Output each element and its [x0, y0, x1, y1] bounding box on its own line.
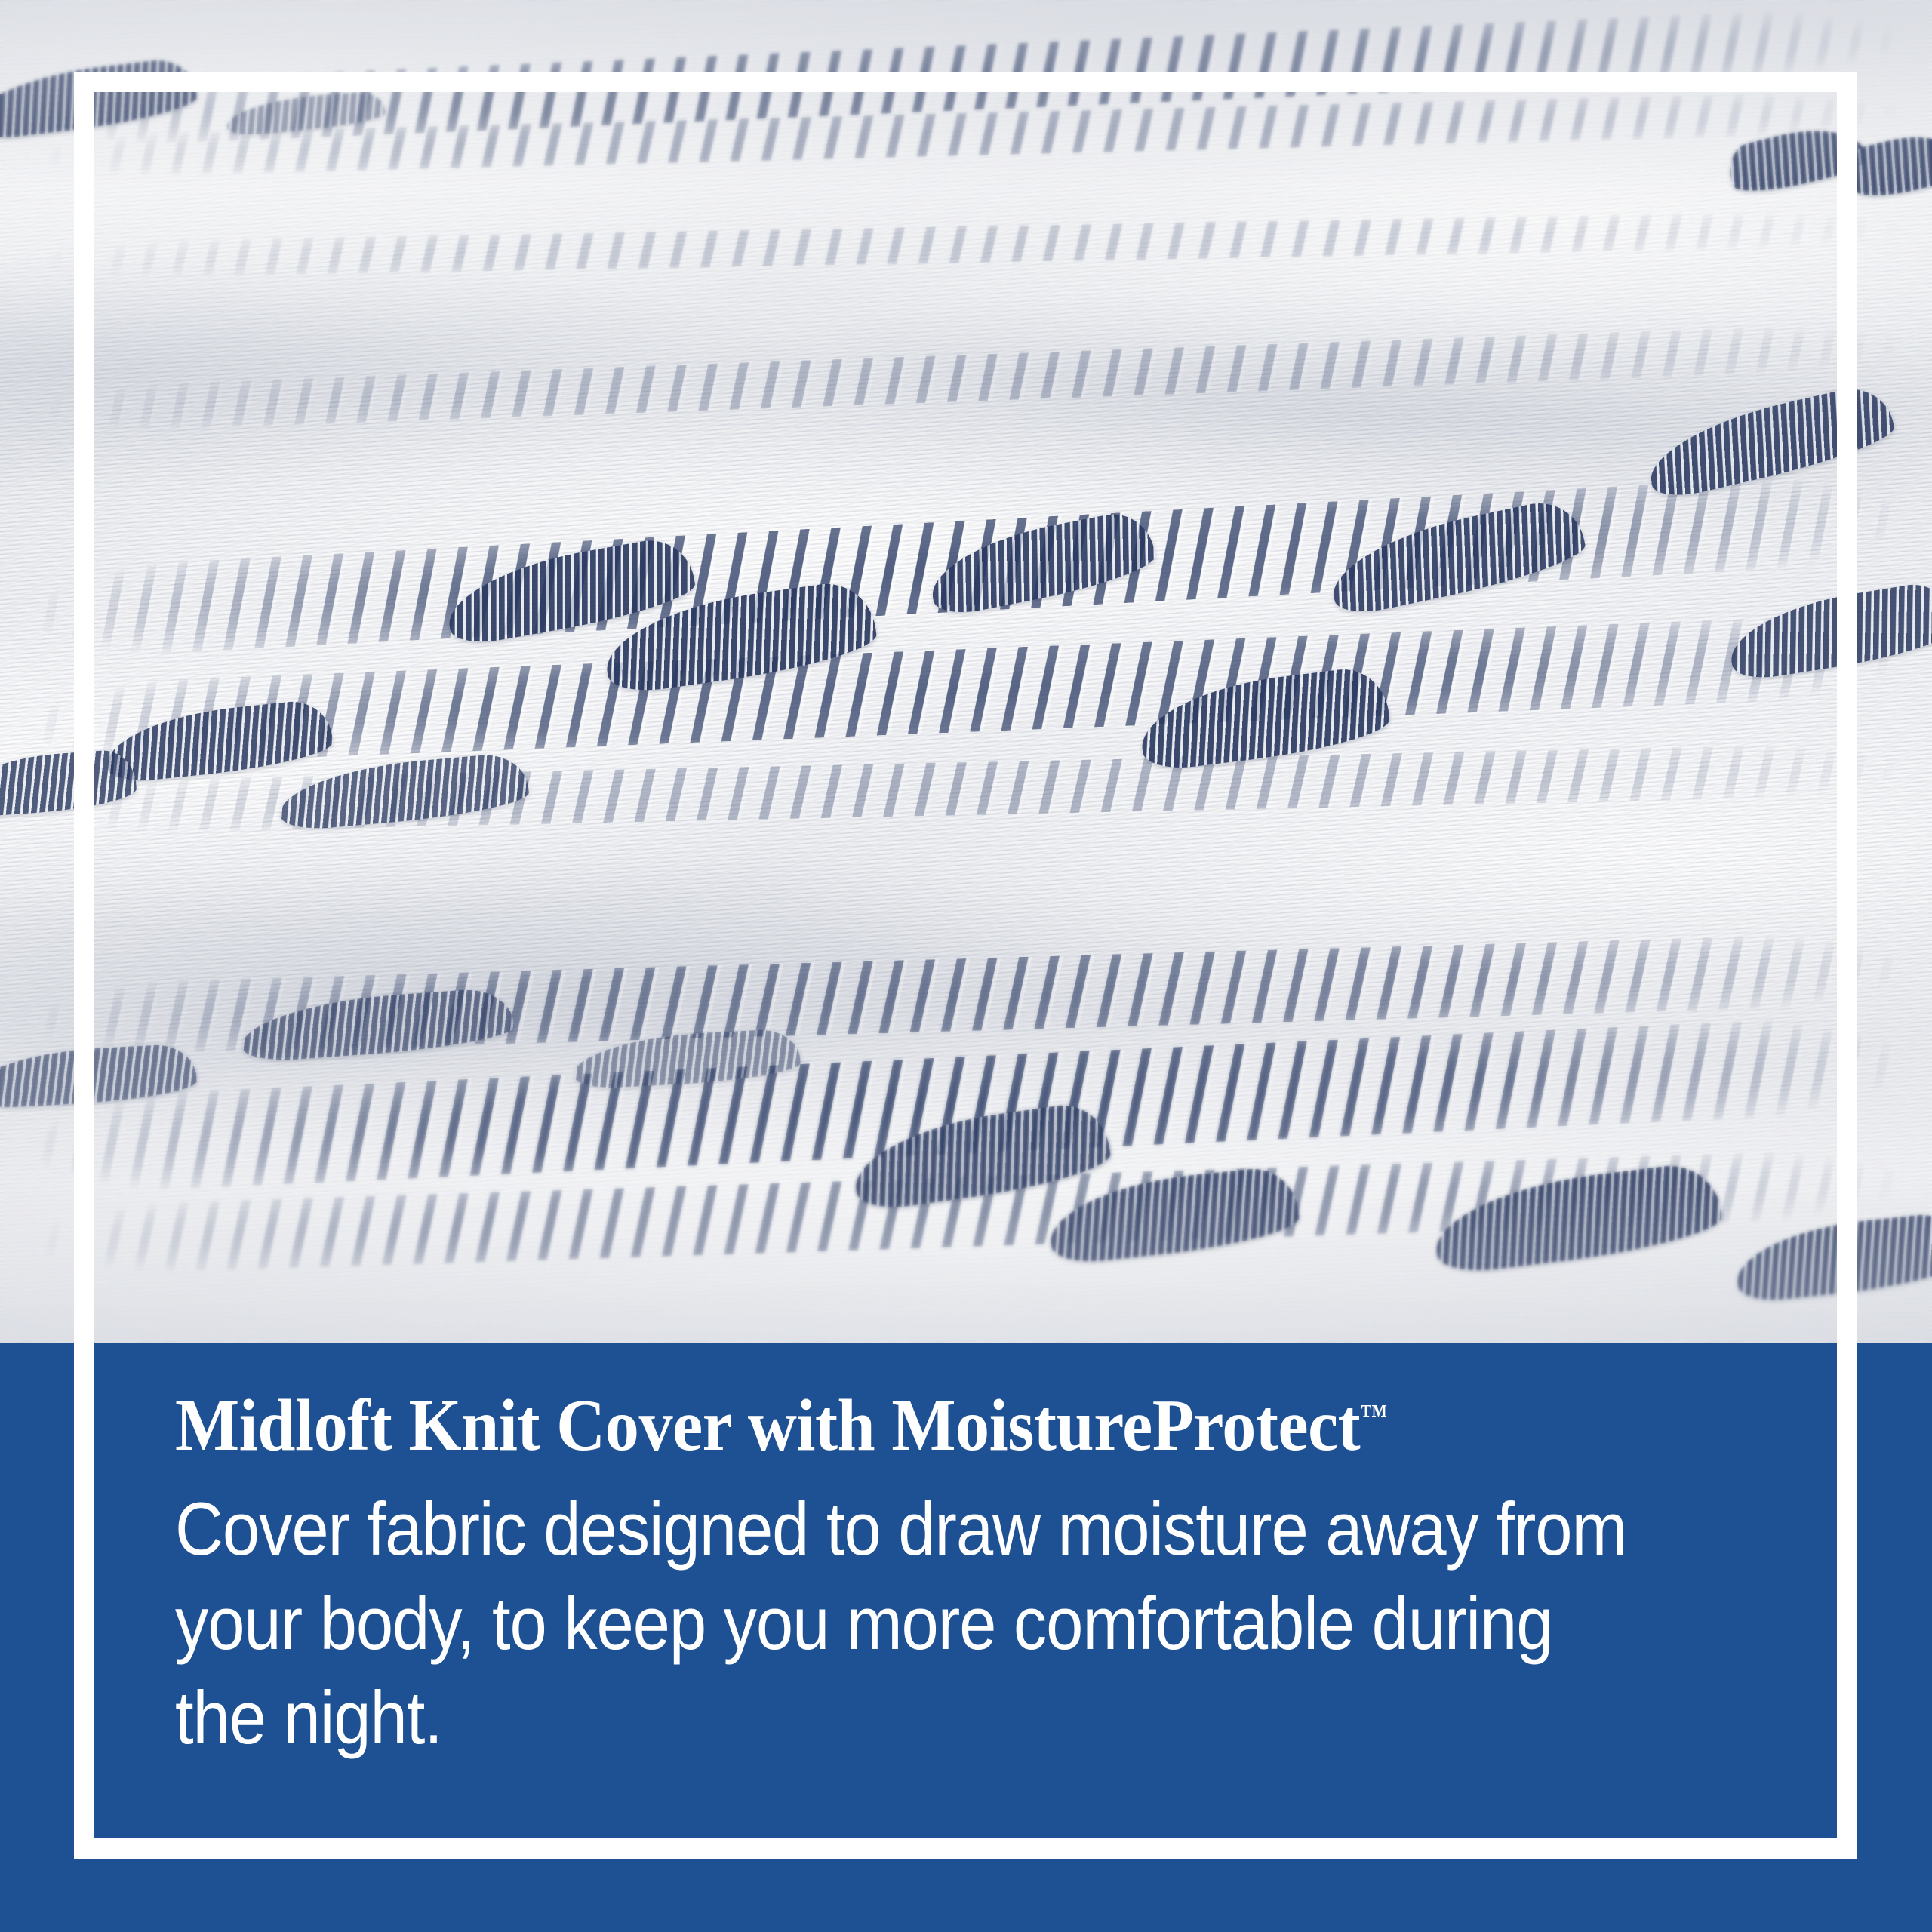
- mattress-feature-card: Midloft Knit Cover with MoistureProtect™…: [0, 0, 1932, 1932]
- feature-description: Cover fabric designed to draw moisture a…: [175, 1481, 1654, 1765]
- feature-headline-text: Midloft Knit Cover with MoistureProtect: [175, 1385, 1360, 1466]
- feature-headline: Midloft Knit Cover with MoistureProtect™: [175, 1387, 1712, 1465]
- caption-text-block: Midloft Knit Cover with MoistureProtect™…: [175, 1387, 1828, 1765]
- trademark-symbol: ™: [1360, 1399, 1388, 1432]
- fabric-closeup-photo: [0, 0, 1932, 1343]
